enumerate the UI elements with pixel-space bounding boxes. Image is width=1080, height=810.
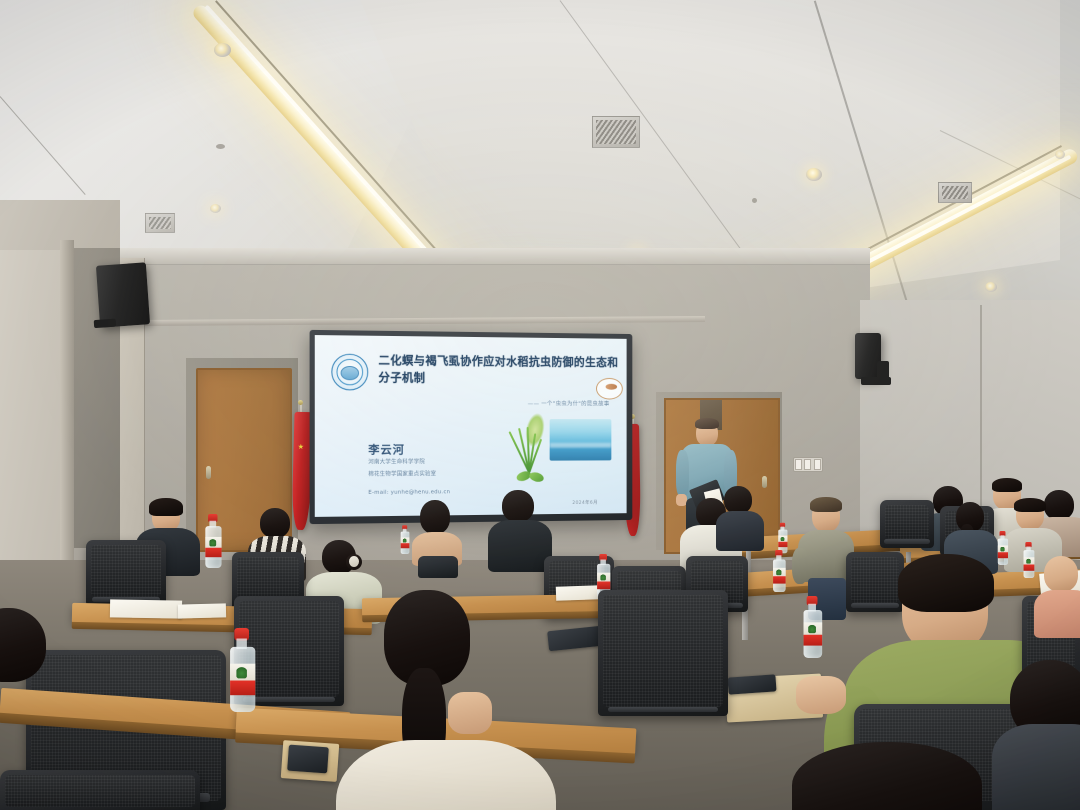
light-switch-panel[interactable] <box>793 457 823 472</box>
paper-sheet <box>178 603 226 618</box>
office-chair <box>0 770 200 810</box>
ceiling-fixture <box>216 144 225 149</box>
paper-sheet <box>556 585 600 601</box>
hvac-vent <box>938 182 972 203</box>
office-chair <box>846 552 904 612</box>
water-bottle <box>400 525 409 554</box>
slide-title: 二化螟与褐飞虱协作应对水稻抗虫防御的生态和分子机制 <box>378 352 619 388</box>
paper-sheet <box>110 599 182 618</box>
wall-soffit <box>60 248 870 265</box>
water-bottle <box>997 531 1008 565</box>
water-bottle <box>802 596 822 658</box>
hvac-vent <box>145 213 175 233</box>
office-chair <box>880 500 934 548</box>
hair <box>898 554 994 612</box>
wall-mounted-display[interactable]: 二化螟与褐飞虱协作应对水稻抗虫防御的生态和分子机制 —— 一个"虫虫为什"的昆虫… <box>310 330 633 524</box>
water-bottle <box>1023 542 1035 578</box>
downlight-icon <box>1055 150 1065 159</box>
university-emblem-icon <box>331 354 368 391</box>
slide-subtitle: —— 一个"虫虫为什"的昆虫故事 <box>528 399 610 407</box>
top-garment <box>418 556 458 578</box>
phone <box>287 745 329 774</box>
slide-caption: 2024年6月 <box>572 500 598 506</box>
slide-author: 李云河 <box>368 441 405 457</box>
right-wall-speaker <box>855 333 881 379</box>
downlight-icon <box>985 282 997 292</box>
hand <box>448 692 492 734</box>
hvac-vent <box>592 116 640 148</box>
flag-finial <box>298 400 303 405</box>
downlight-icon <box>214 43 231 57</box>
hair-clip <box>349 556 359 567</box>
office-chair <box>598 590 728 716</box>
hair <box>695 418 719 429</box>
hand <box>796 676 846 714</box>
office-chair <box>86 540 166 606</box>
seminar-room-photo: ★ ★ 二化螟与褐飞虱协作应对水稻抗虫防御的生态和分子机制 —— 一个"虫虫为什… <box>0 0 1080 810</box>
downlight-icon <box>806 168 822 181</box>
downlight-icon <box>210 204 221 213</box>
slide-email: E-mail: yunhe@henu.edu.cn <box>368 489 450 496</box>
slide-surface: 二化螟与褐飞虱协作应对水稻抗虫防御的生态和分子机制 —— 一个"虫虫为什"的昆虫… <box>315 335 627 517</box>
left-wall-speaker <box>96 262 150 327</box>
slide-affiliation-1: 河南大学生命科学学院 <box>368 457 425 467</box>
ceiling-fixture <box>752 198 757 203</box>
rice-plant-icon <box>503 411 560 483</box>
water-bottle <box>772 550 786 592</box>
phone <box>727 674 776 694</box>
insect-icon <box>606 384 617 390</box>
water-bottle <box>778 523 788 553</box>
slide-affiliation-2: 棉花生物学国家重点实验室 <box>368 469 436 480</box>
water-bottle <box>228 628 255 712</box>
door-knob-icon <box>762 476 767 488</box>
water-bottle <box>204 514 222 568</box>
